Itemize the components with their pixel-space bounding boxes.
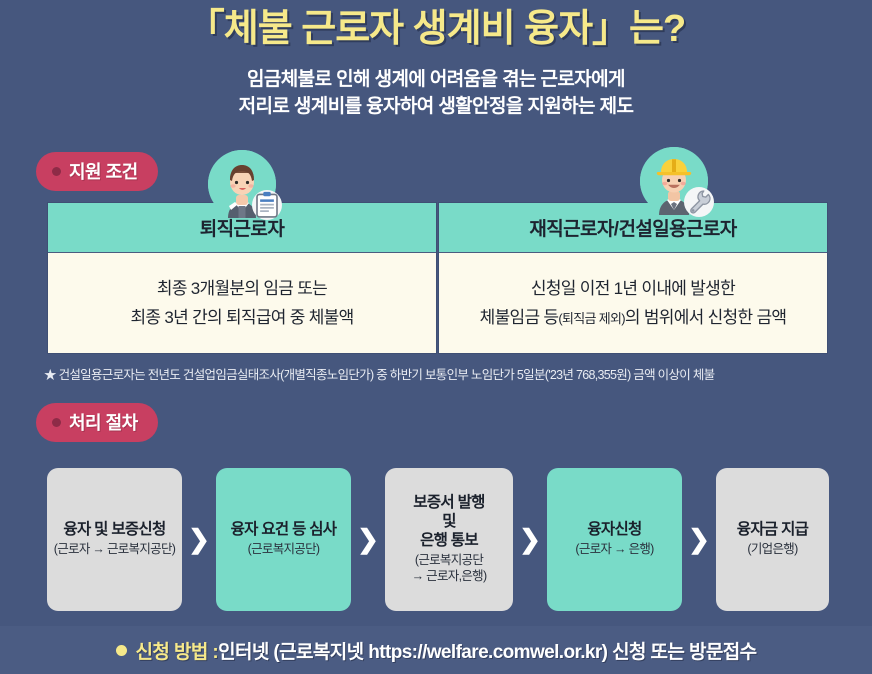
wrench-icon xyxy=(684,187,714,217)
office-worker-avatar xyxy=(208,150,276,218)
title-block: 「체불 근로자 생계비 융자」는? 임금체불로 인해 생계에 어려움을 겪는 근… xyxy=(0,8,872,121)
page-title: 「체불 근로자 생계비 융자」는? xyxy=(0,8,872,52)
condition-card-employed-line-1: 신청일 이전 1년 이내에 발생한 xyxy=(531,275,735,303)
bullet-dot-icon xyxy=(52,418,61,427)
bullet-dot-icon xyxy=(116,645,127,656)
section-badge-conditions: 지원 조건 xyxy=(36,152,158,191)
flow-step-3-title-line-2: 및 xyxy=(442,513,456,532)
condition-card-retired: 퇴직근로자 최종 3개월분의 임금 또는 최종 3년 간의 퇴직급여 중 체불액 xyxy=(47,202,437,354)
bullet-dot-icon xyxy=(52,167,61,176)
subtitle-line-2: 저리로 생계비를 융자하여 생활안정을 지원하는 제도 xyxy=(0,93,872,121)
condition-card-retired-line-1: 최종 3개월분의 임금 또는 xyxy=(157,275,327,303)
flow-arrow-4-icon: ❯ xyxy=(682,468,716,611)
flow-step-3-title-line-3: 은행 통보 xyxy=(420,532,478,551)
clipboard-icon xyxy=(252,190,282,220)
conditions-footnote: ★ 건설일용근로자는 전년도 건설업임금실태조사(개별직종노임단가) 중 하반기… xyxy=(44,364,834,383)
condition-card-employed-line-2: 체불임금 등(퇴직금 제외)의 범위에서 신청한 금액 xyxy=(480,304,787,332)
construction-worker-avatar xyxy=(640,147,708,215)
flow-step-2-title: 융자 요건 등 심사 xyxy=(231,521,337,540)
flow-step-5: 융자금 지급 (기업은행) xyxy=(716,468,829,611)
footer-label: 신청 방법 : xyxy=(136,637,219,664)
flow-step-2: 융자 요건 등 심사 (근로복지공단) xyxy=(216,468,351,611)
flow-step-3-sub-line-2: → 근로자,은행) xyxy=(412,569,487,585)
flow-step-4-sub: (근로자 → 은행) xyxy=(575,542,653,558)
flow-arrow-2-icon: ❯ xyxy=(351,468,385,611)
poster-root: 「체불 근로자 생계비 융자」는? 임금체불로 인해 생계에 어려움을 겪는 근… xyxy=(0,0,872,674)
subtitle-line-1: 임금체불로 인해 생계에 어려움을 겪는 근로자에게 xyxy=(0,66,872,94)
flow-step-5-sub: (기업은행) xyxy=(747,542,797,558)
condition-card-employed-line-2-b: 의 범위에서 신청한 금액 xyxy=(625,308,786,327)
page-subtitle: 임금체불로 인해 생계에 어려움을 겪는 근로자에게 저리로 생계비를 융자하여… xyxy=(0,66,872,121)
flow-step-4: 융자신청 (근로자 → 은행) xyxy=(547,468,682,611)
condition-card-retired-line-2: 최종 3년 간의 퇴직급여 중 체불액 xyxy=(130,304,353,332)
footer-text: 인터넷 (근로복지넷 https://welfare.comwel.or.kr)… xyxy=(218,637,756,664)
condition-card-employed-title: 재직근로자/건설일용근로자 xyxy=(439,203,827,253)
flow-step-5-title: 융자금 지급 xyxy=(737,521,808,540)
wrench-icon-graphic xyxy=(684,168,714,236)
section-badge-conditions-label: 지원 조건 xyxy=(69,158,138,184)
flow-step-3-sub-line-1: (근로복지공단 xyxy=(415,553,483,569)
condition-card-employed-line-2-note: (퇴직금 제외) xyxy=(558,311,624,326)
flow-arrow-1-icon: ❯ xyxy=(182,468,216,611)
condition-card-employed-body: 신청일 이전 1년 이내에 발생한 체불임금 등(퇴직금 제외)의 범위에서 신… xyxy=(439,253,827,354)
condition-card-employed: 재직근로자/건설일용근로자 신청일 이전 1년 이내에 발생한 체불임금 등(퇴… xyxy=(438,202,828,354)
clipboard-icon-graphic xyxy=(252,171,282,239)
flow-step-4-title: 융자신청 xyxy=(587,521,641,540)
flow-step-1-sub: (근로자 → 근로복지공단) xyxy=(54,542,175,558)
flow-step-3-title-line-1: 보증서 발행 xyxy=(413,494,484,513)
flow-step-2-sub: (근로복지공단) xyxy=(248,542,320,558)
footer-bar: 신청 방법 : 인터넷 (근로복지넷 https://welfare.comwe… xyxy=(0,626,872,674)
section-badge-procedure: 처리 절차 xyxy=(36,403,158,442)
flow-step-1: 융자 및 보증신청 (근로자 → 근로복지공단) xyxy=(47,468,182,611)
flow-step-1-title: 융자 및 보증신청 xyxy=(63,521,165,540)
condition-card-employed-line-2-a: 체불임금 등 xyxy=(480,308,559,327)
section-badge-procedure-label: 처리 절차 xyxy=(69,409,138,435)
procedure-flow: 융자 및 보증신청 (근로자 → 근로복지공단) ❯ 융자 요건 등 심사 (근… xyxy=(47,468,829,611)
condition-card-retired-body: 최종 3개월분의 임금 또는 최종 3년 간의 퇴직급여 중 체불액 xyxy=(48,253,436,354)
flow-arrow-3-icon: ❯ xyxy=(513,468,547,611)
flow-step-3: 보증서 발행 및 은행 통보 (근로복지공단 → 근로자,은행) xyxy=(385,468,513,611)
